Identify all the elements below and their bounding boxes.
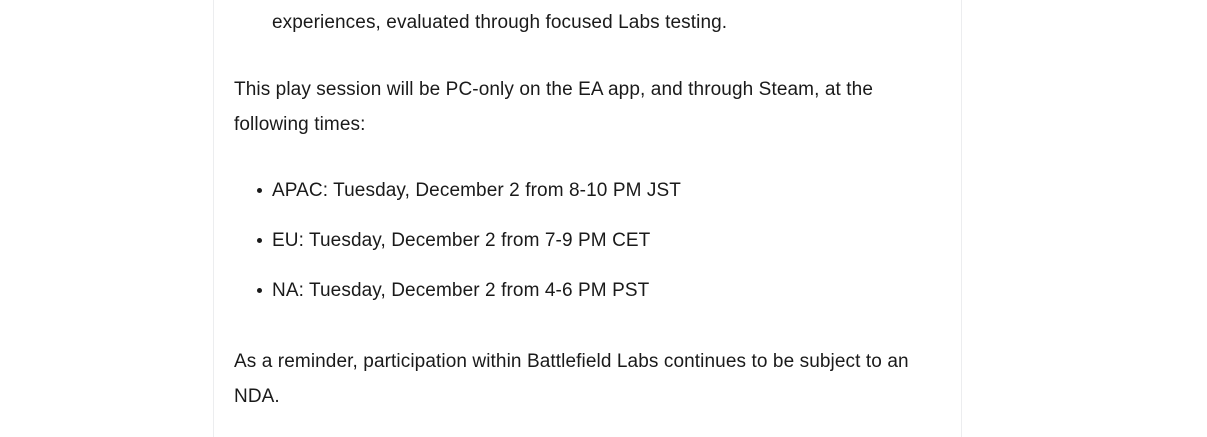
- list-item: NA: Tuesday, December 2 from 4-6 PM PST: [234, 273, 941, 308]
- session-time-na: NA: Tuesday, December 2 from 4-6 PM PST: [272, 280, 649, 301]
- session-time-apac: APAC: Tuesday, December 2 from 8-10 PM J…: [272, 180, 681, 201]
- session-times-list: APAC: Tuesday, December 2 from 8-10 PM J…: [234, 173, 941, 308]
- bullet-icon: [257, 238, 262, 243]
- list-item: EU: Tuesday, December 2 from 7-9 PM CET: [234, 223, 941, 258]
- content-column-right-rule: [961, 0, 962, 437]
- list-item: APAC: Tuesday, December 2 from 8-10 PM J…: [234, 173, 941, 208]
- continued-list-line: experiences, evaluated through focused L…: [234, 0, 941, 44]
- closing-paragraph: As a reminder, participation within Batt…: [234, 344, 924, 414]
- content-column: experiences, evaluated through focused L…: [214, 0, 961, 437]
- session-time-eu: EU: Tuesday, December 2 from 7-9 PM CET: [272, 230, 650, 251]
- lead-paragraph: This play session will be PC-only on the…: [234, 72, 924, 142]
- bullet-icon: [257, 288, 262, 293]
- article-body: experiences, evaluated through focused L…: [234, 0, 941, 414]
- bullet-icon: [257, 188, 262, 193]
- page: experiences, evaluated through focused L…: [0, 0, 1207, 437]
